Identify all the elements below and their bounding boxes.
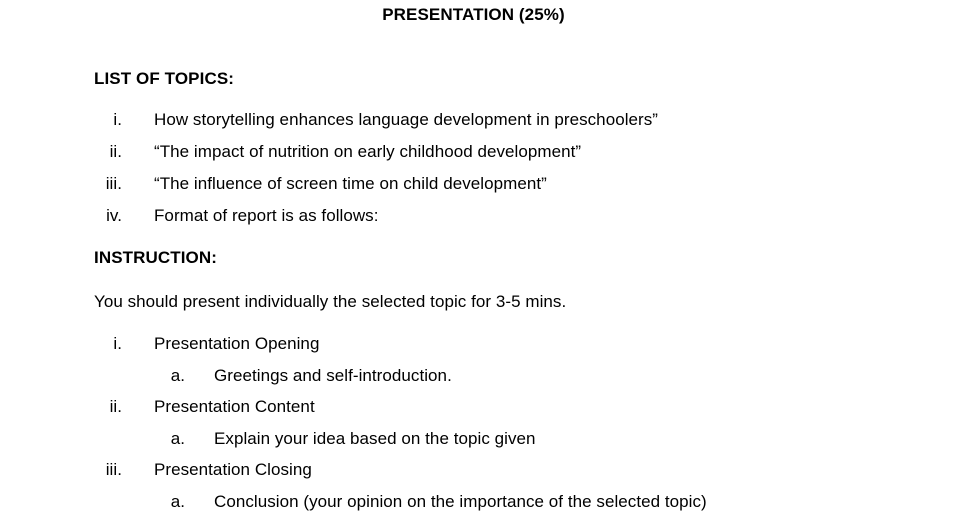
list-marker: ii. bbox=[62, 397, 122, 417]
list-item-text: “The impact of nutrition on early childh… bbox=[154, 142, 581, 162]
list-item-text: Format of report is as follows: bbox=[154, 206, 379, 226]
list-sub-item: a. Greetings and self-introduction. bbox=[0, 366, 967, 397]
list-item: iii. “The influence of screen time on ch… bbox=[0, 174, 967, 206]
list-item: ii. Presentation Content bbox=[0, 397, 967, 429]
list-marker: iv. bbox=[62, 206, 122, 226]
list-item: iv. Format of report is as follows: bbox=[0, 206, 967, 238]
list-sub-item-text: Conclusion (your opinion on the importan… bbox=[214, 492, 707, 512]
list-marker: i. bbox=[62, 334, 122, 354]
document-title: PRESENTATION (25%) bbox=[0, 5, 947, 25]
list-item: iii. Presentation Closing bbox=[0, 460, 967, 492]
list-sub-marker: a. bbox=[128, 366, 185, 386]
instruction-heading: INSTRUCTION: bbox=[94, 248, 217, 268]
list-marker: iii. bbox=[62, 460, 122, 480]
instruction-paragraph: You should present individually the sele… bbox=[94, 292, 566, 312]
topics-list: i. How storytelling enhances language de… bbox=[0, 110, 967, 238]
list-item-text: Presentation Opening bbox=[154, 334, 319, 354]
list-item: i. Presentation Opening bbox=[0, 334, 967, 366]
instruction-list: i. Presentation Opening a. Greetings and… bbox=[0, 334, 967, 523]
list-item-text: Presentation Content bbox=[154, 397, 315, 417]
list-of-topics-heading: LIST OF TOPICS: bbox=[94, 69, 234, 89]
list-item-text: “The influence of screen time on child d… bbox=[154, 174, 547, 194]
list-marker: i. bbox=[62, 110, 122, 130]
list-sub-item-text: Greetings and self-introduction. bbox=[214, 366, 452, 386]
list-item: ii. “The impact of nutrition on early ch… bbox=[0, 142, 967, 174]
list-sub-item: a. Explain your idea based on the topic … bbox=[0, 429, 967, 460]
list-sub-marker: a. bbox=[128, 492, 185, 512]
list-item-text: How storytelling enhances language devel… bbox=[154, 110, 658, 130]
list-item-text: Presentation Closing bbox=[154, 460, 312, 480]
list-sub-marker: a. bbox=[128, 429, 185, 449]
list-marker: ii. bbox=[62, 142, 122, 162]
list-marker: iii. bbox=[62, 174, 122, 194]
list-sub-item-text: Explain your idea based on the topic giv… bbox=[214, 429, 536, 449]
document-page: PRESENTATION (25%) LIST OF TOPICS: i. Ho… bbox=[0, 0, 967, 523]
list-item: i. How storytelling enhances language de… bbox=[0, 110, 967, 142]
list-sub-item: a. Conclusion (your opinion on the impor… bbox=[0, 492, 967, 523]
